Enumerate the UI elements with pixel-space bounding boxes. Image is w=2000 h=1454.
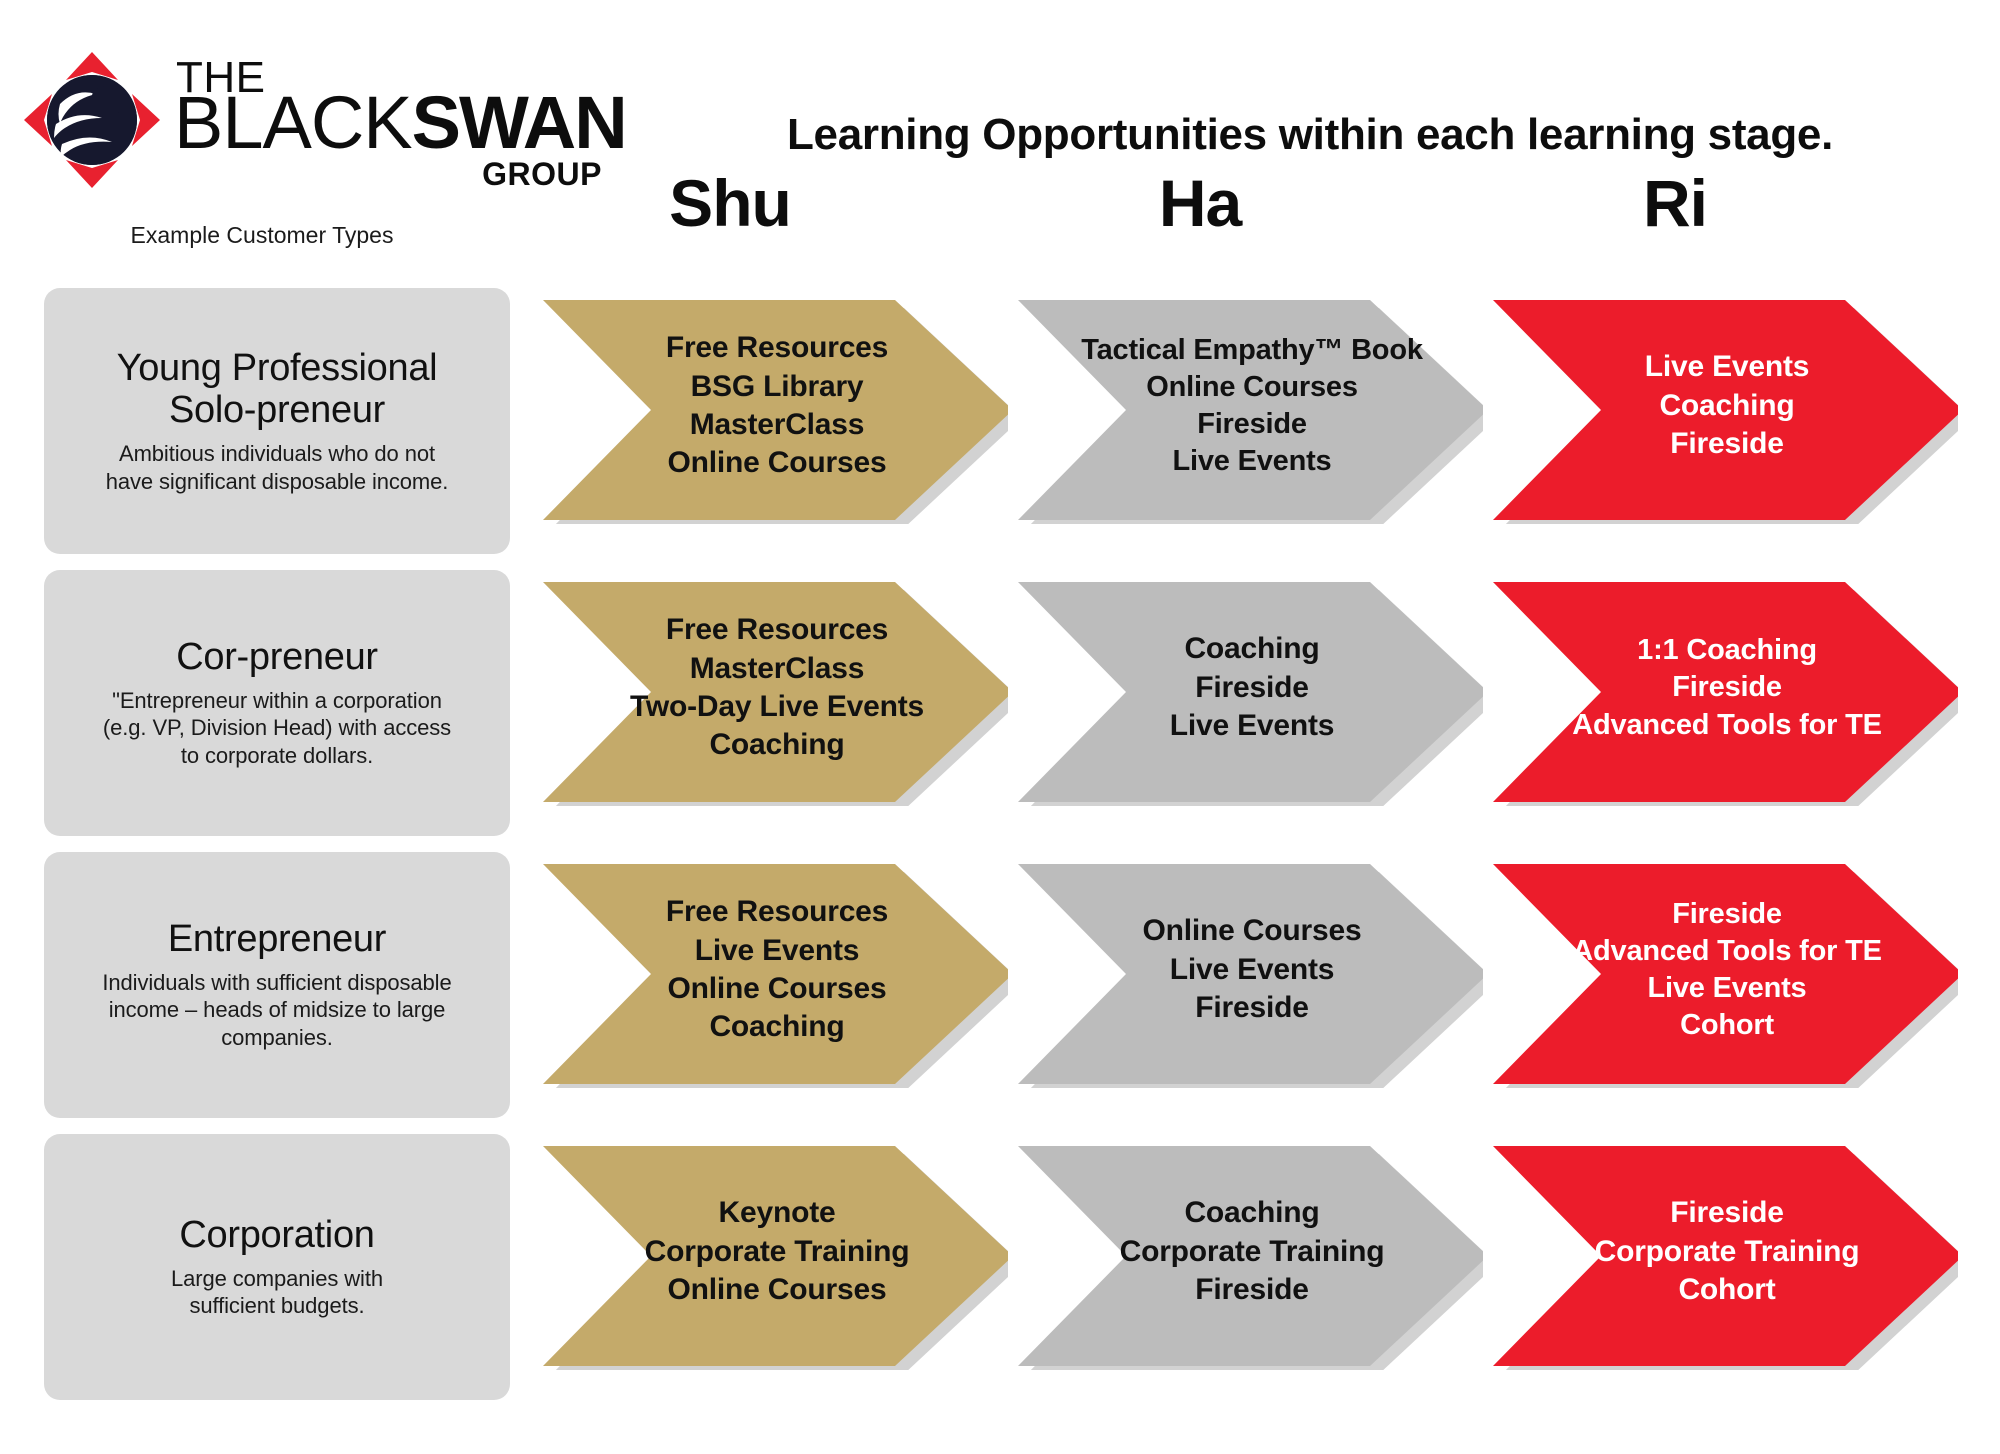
logo-blackswan: BLACKSWAN — [174, 86, 626, 160]
matrix-row: EntrepreneurIndividuals with sufficient … — [0, 852, 2000, 1118]
stage-chevron-shu[interactable]: Free ResourcesMasterClassTwo-Day Live Ev… — [538, 570, 1008, 806]
stage-heading-shu: Shu — [520, 170, 940, 250]
stage-chevron-ha[interactable]: Online CoursesLive EventsFireside — [1013, 852, 1483, 1088]
stage-chevron-ha[interactable]: Tactical Empathy™ BookOnline CoursesFire… — [1013, 288, 1483, 524]
persona-description: "Entrepreneur within a corporation(e.g. … — [103, 687, 451, 770]
stage-heading-ha: Ha — [990, 170, 1410, 250]
matrix-row: Cor-preneur"Entrepreneur within a corpor… — [0, 570, 2000, 836]
stage-chevron-shu[interactable]: KeynoteCorporate TrainingOnline Courses — [538, 1134, 1008, 1370]
stage-chevron-ri[interactable]: Live EventsCoachingFireside — [1488, 288, 1958, 524]
persona-title: Cor-preneur — [176, 636, 378, 679]
black-swan-diamond-logo-icon — [22, 50, 162, 190]
stage-chevron-shu[interactable]: Free ResourcesBSG LibraryMasterClassOnli… — [538, 288, 1008, 524]
matrix-row: Young ProfessionalSolo-preneurAmbitious … — [0, 288, 2000, 554]
stage-headings: Shu Ha Ri — [520, 170, 1980, 250]
logo-black: BLACK — [174, 81, 412, 164]
persona-card[interactable]: Cor-preneur"Entrepreneur within a corpor… — [44, 570, 510, 836]
example-customer-types-label: Example Customer Types — [22, 222, 502, 249]
page-header: THE BLACKSWAN GROUP Example Customer Typ… — [0, 0, 2000, 278]
logo-swan: SWAN — [412, 81, 626, 164]
stage-chevron-ha[interactable]: CoachingFiresideLive Events — [1013, 570, 1483, 806]
stage-chevron-ri[interactable]: FiresideAdvanced Tools for TELive Events… — [1488, 852, 1958, 1088]
page-title: Learning Opportunities within each learn… — [640, 110, 1980, 160]
persona-card[interactable]: CorporationLarge companies withsufficien… — [44, 1134, 510, 1400]
persona-description: Large companies withsufficient budgets. — [171, 1265, 383, 1320]
persona-card[interactable]: EntrepreneurIndividuals with sufficient … — [44, 852, 510, 1118]
persona-title: Young ProfessionalSolo-preneur — [117, 347, 438, 432]
stage-heading-ri: Ri — [1465, 170, 1885, 250]
persona-description: Individuals with sufficient disposablein… — [102, 969, 451, 1052]
persona-description: Ambitious individuals who do nothave sig… — [106, 440, 449, 495]
stage-chevron-ri[interactable]: FiresideCorporate TrainingCohort — [1488, 1134, 1958, 1370]
stage-chevron-ha[interactable]: CoachingCorporate TrainingFireside — [1013, 1134, 1483, 1370]
stage-chevron-shu[interactable]: Free ResourcesLive EventsOnline CoursesC… — [538, 852, 1008, 1088]
matrix-row: CorporationLarge companies withsufficien… — [0, 1134, 2000, 1400]
stage-chevron-ri[interactable]: 1:1 CoachingFiresideAdvanced Tools for T… — [1488, 570, 1958, 806]
brand-logo: THE BLACKSWAN GROUP — [22, 42, 602, 222]
persona-title: Entrepreneur — [168, 918, 386, 961]
matrix-rows: Young ProfessionalSolo-preneurAmbitious … — [0, 278, 2000, 1408]
persona-card[interactable]: Young ProfessionalSolo-preneurAmbitious … — [44, 288, 510, 554]
brand-wordmark: THE BLACKSWAN GROUP — [174, 56, 604, 186]
persona-title: Corporation — [179, 1214, 374, 1257]
